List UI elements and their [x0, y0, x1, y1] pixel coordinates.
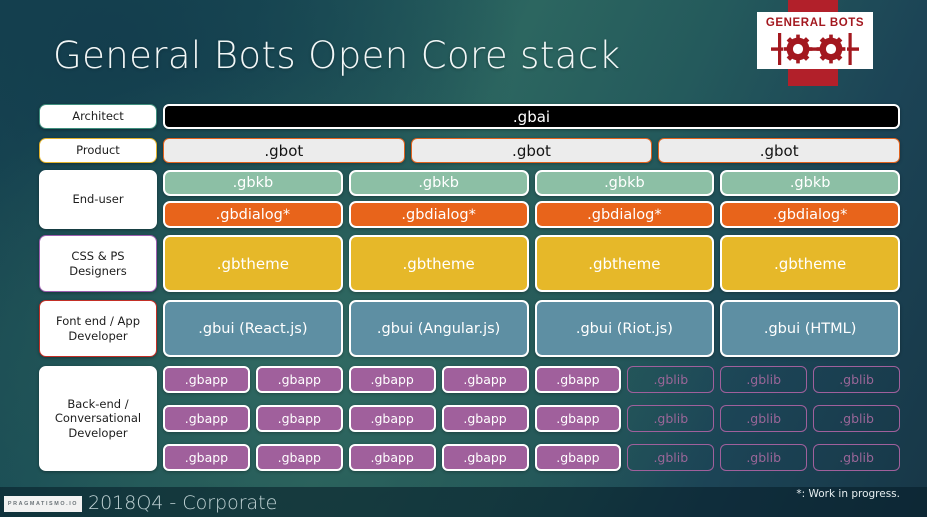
cell-gblib[interactable]: .gblib [720, 405, 807, 432]
cell-gblib-label: .gblib [746, 411, 781, 426]
cell-gbdialog[interactable]: .gbdialog* [535, 201, 715, 228]
cell-gbapp[interactable]: .gbapp [256, 444, 343, 471]
cell-gbapp[interactable]: .gbapp [442, 405, 529, 432]
cell-gblib[interactable]: .gblib [627, 444, 714, 471]
cell-gbai[interactable]: .gbai [163, 104, 900, 129]
stack-diagram: ArchitectProductEnd-userCSS & PS Designe… [0, 0, 927, 517]
cell-gblib[interactable]: .gblib [627, 405, 714, 432]
row-label-text: Back-end / Conversational Developer [55, 397, 141, 440]
slide-canvas: GENERAL BOTS [0, 0, 927, 517]
pragmatismo-wordmark: PRAGMATISMO.IO [8, 501, 78, 507]
cell-gbapp-label: .gbapp [371, 411, 414, 426]
cell-gbdialog-label: .gbdialog* [587, 207, 662, 223]
footer-note: 2018Q4 - Corporate [88, 492, 277, 514]
row-label-text: Product [76, 143, 120, 157]
cell-gbapp-label: .gbapp [463, 411, 506, 426]
cell-gbapp-label: .gbapp [371, 450, 414, 465]
cell-gblib-label: .gblib [746, 372, 781, 387]
cell-gbtheme[interactable]: .gbtheme [720, 235, 900, 292]
cell-gbdialog-label: .gbdialog* [216, 207, 291, 223]
cell-gbapp-label: .gbapp [185, 372, 228, 387]
row-label-text: End-user [72, 192, 123, 206]
cell-gbapp[interactable]: .gbapp [535, 405, 622, 432]
row-label-text: Architect [72, 109, 124, 123]
cell-gblib-label: .gblib [746, 450, 781, 465]
work-in-progress-note: *: Work in progress. [796, 488, 900, 500]
cell-gbapp-label: .gbapp [185, 411, 228, 426]
cell-gbapp-label: .gbapp [463, 372, 506, 387]
cell-gblib[interactable]: .gblib [813, 444, 900, 471]
pragmatismo-logo: PRAGMATISMO.IO [4, 496, 82, 512]
cell-gbot-label: .gbot [264, 142, 303, 160]
row-label-backend: Back-end / Conversational Developer [39, 366, 157, 471]
cell-gbtheme[interactable]: .gbtheme [535, 235, 715, 292]
cell-gbapp-label: .gbapp [556, 372, 599, 387]
row-label-designers: CSS & PS Designers [39, 235, 157, 292]
row-label-architect: Architect [39, 104, 157, 129]
cell-gbtheme-label: .gbtheme [774, 255, 846, 273]
cell-gbui[interactable]: .gbui (Riot.js) [535, 300, 715, 357]
cell-gblib-label: .gblib [653, 372, 688, 387]
cell-gbapp[interactable]: .gbapp [349, 444, 436, 471]
cell-gbapp[interactable]: .gbapp [349, 366, 436, 393]
cell-gbkb[interactable]: .gbkb [349, 170, 529, 196]
cell-gbui-label: .gbui (Riot.js) [576, 321, 673, 337]
cell-gbai-label: .gbai [513, 108, 550, 126]
row-label-text: Font end / App Developer [56, 314, 140, 343]
cell-gbot-label: .gbot [760, 142, 799, 160]
cell-gbapp[interactable]: .gbapp [163, 405, 250, 432]
cell-gblib[interactable]: .gblib [720, 366, 807, 393]
cell-gbui-label: .gbui (React.js) [198, 321, 307, 337]
cell-gblib-label: .gblib [839, 450, 874, 465]
cell-gbui[interactable]: .gbui (Angular.js) [349, 300, 529, 357]
cell-gbapp-label: .gbapp [556, 450, 599, 465]
cell-gbapp-label: .gbapp [278, 450, 321, 465]
cell-gbdialog[interactable]: .gbdialog* [163, 201, 343, 228]
cell-gbapp-label: .gbapp [185, 450, 228, 465]
cell-gbot[interactable]: .gbot [658, 138, 900, 163]
cell-gbapp-label: .gbapp [463, 450, 506, 465]
cell-gblib-label: .gblib [839, 411, 874, 426]
cell-gbapp[interactable]: .gbapp [442, 366, 529, 393]
cell-gblib[interactable]: .gblib [720, 444, 807, 471]
cell-gbapp[interactable]: .gbapp [163, 444, 250, 471]
cell-gbdialog[interactable]: .gbdialog* [720, 201, 900, 228]
cell-gbapp[interactable]: .gbapp [535, 366, 622, 393]
cell-gbot[interactable]: .gbot [411, 138, 653, 163]
cell-gbtheme[interactable]: .gbtheme [163, 235, 343, 292]
cell-gbtheme-label: .gbtheme [217, 255, 289, 273]
cell-gbdialog-label: .gbdialog* [401, 207, 476, 223]
cell-gbtheme-label: .gbtheme [588, 255, 660, 273]
cell-gblib-label: .gblib [653, 450, 688, 465]
row-label-product: Product [39, 138, 157, 163]
row-label-frontend: Font end / App Developer [39, 300, 157, 357]
cell-gbkb-label: .gbkb [233, 175, 274, 191]
cell-gbapp[interactable]: .gbapp [535, 444, 622, 471]
cell-gblib-label: .gblib [653, 411, 688, 426]
cell-gbapp[interactable]: .gbapp [442, 444, 529, 471]
cell-gbapp[interactable]: .gbapp [349, 405, 436, 432]
cell-gbapp-label: .gbapp [371, 372, 414, 387]
cell-gbkb-label: .gbkb [790, 175, 831, 191]
cell-gblib[interactable]: .gblib [813, 405, 900, 432]
cell-gblib-label: .gblib [839, 372, 874, 387]
cell-gbapp[interactable]: .gbapp [256, 405, 343, 432]
row-label-end-user: End-user [39, 170, 157, 229]
cell-gbui[interactable]: .gbui (React.js) [163, 300, 343, 357]
cell-gbapp-label: .gbapp [278, 411, 321, 426]
cell-gbdialog-label: .gbdialog* [773, 207, 848, 223]
cell-gblib[interactable]: .gblib [813, 366, 900, 393]
cell-gbtheme-label: .gbtheme [402, 255, 474, 273]
cell-gbui[interactable]: .gbui (HTML) [720, 300, 900, 357]
cell-gbapp[interactable]: .gbapp [163, 366, 250, 393]
cell-gbapp[interactable]: .gbapp [256, 366, 343, 393]
cell-gbkb-label: .gbkb [604, 175, 645, 191]
cell-gbot-label: .gbot [512, 142, 551, 160]
cell-gbapp-label: .gbapp [278, 372, 321, 387]
cell-gbkb[interactable]: .gbkb [163, 170, 343, 196]
row-label-text: CSS & PS Designers [69, 249, 127, 278]
cell-gbapp-label: .gbapp [556, 411, 599, 426]
cell-gbui-label: .gbui (Angular.js) [377, 321, 500, 337]
cell-gbkb-label: .gbkb [418, 175, 459, 191]
cell-gblib[interactable]: .gblib [627, 366, 714, 393]
cell-gbkb[interactable]: .gbkb [535, 170, 715, 196]
cell-gbot[interactable]: .gbot [163, 138, 405, 163]
cell-gbkb[interactable]: .gbkb [720, 170, 900, 196]
cell-gbui-label: .gbui (HTML) [764, 321, 857, 337]
cell-gbtheme[interactable]: .gbtheme [349, 235, 529, 292]
cell-gbdialog[interactable]: .gbdialog* [349, 201, 529, 228]
